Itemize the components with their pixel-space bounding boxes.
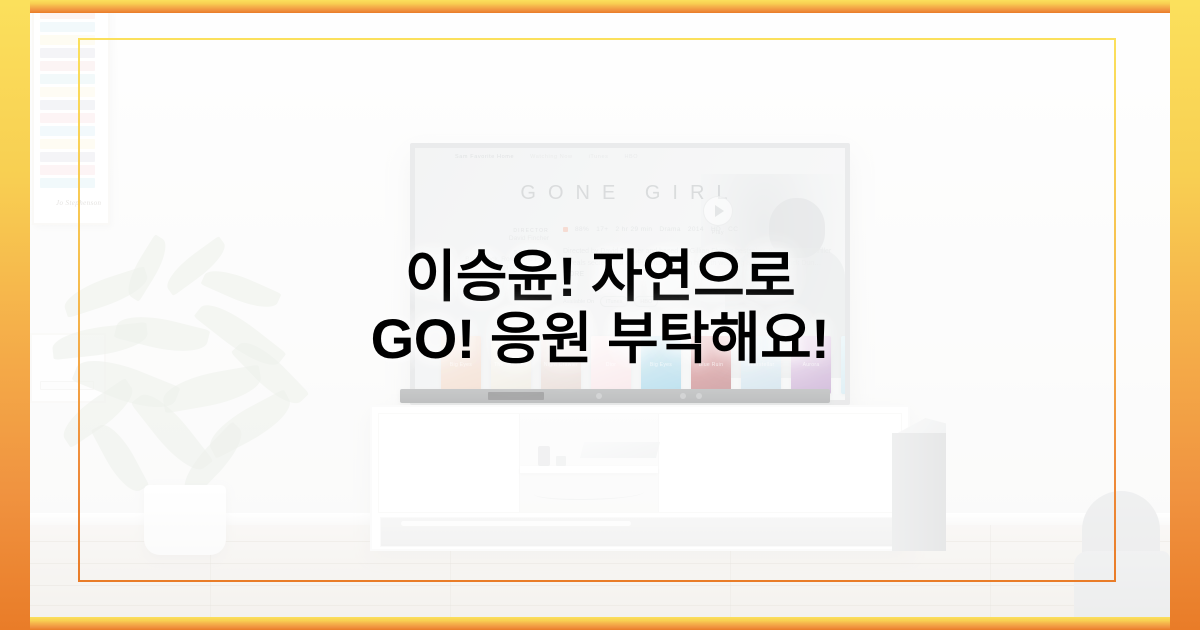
- border-bottom: [0, 617, 1200, 630]
- border-top: [0, 0, 1200, 13]
- console-open-compartment: [519, 414, 659, 512]
- poster-thumbnail[interactable]: The Interview: [491, 336, 531, 394]
- poster-title: Big Eyes: [450, 362, 472, 368]
- potted-plant: [52, 249, 312, 549]
- accent-chair-seat: [1074, 551, 1170, 617]
- console-shelf: [520, 466, 658, 473]
- provider-itunes[interactable]: iTunes: [600, 296, 628, 307]
- soundbar: [400, 389, 830, 403]
- poster-title: Interstellar: [748, 362, 775, 368]
- movie-credits: DIRECTOR David Fincher STARRING Ben Affl…: [463, 228, 549, 280]
- framed-artwork: Jo Stephenson: [32, 13, 110, 225]
- poster-thumbnail[interactable]: Big Eyes: [441, 336, 481, 394]
- border-right: [1170, 0, 1200, 630]
- movie-score: 88%: [575, 226, 589, 233]
- artwork-stripe: [40, 22, 95, 32]
- poster-thumbnail[interactable]: Night Crawler: [541, 336, 581, 394]
- artwork-stripe: [40, 13, 95, 19]
- poster-title: Aurora: [803, 362, 820, 368]
- tv-nav-item-1[interactable]: Watching Now: [530, 154, 572, 160]
- tv-console: [370, 405, 910, 551]
- tv-nav[interactable]: Sam Favorite Home Watching Now iTunes HB…: [455, 154, 638, 160]
- poster-thumbnail[interactable]: Dior: [591, 336, 631, 394]
- poster-carousel[interactable]: Big EyesThe InterviewNight CrawlerDiorBi…: [441, 336, 850, 394]
- console-tray: [580, 442, 660, 458]
- artwork-stripe: [40, 178, 95, 188]
- tv-nav-item-0[interactable]: Sam Favorite Home: [455, 154, 514, 160]
- rating-icon: [563, 227, 568, 232]
- starring-value: Ben Affleck, Rosamund Pike, Neil Patrick…: [463, 256, 549, 274]
- artwork-stripe: [40, 48, 95, 58]
- cable: [534, 486, 644, 500]
- poster-title: Night Crawler: [544, 362, 578, 368]
- small-device: [556, 456, 566, 466]
- movie-description: Directed by David Fincher and based on G…: [563, 246, 833, 281]
- movie-runtime: 2 hr 29 min: [615, 226, 652, 233]
- poster-thumbnail[interactable]: Velvet: [841, 336, 850, 394]
- artwork-stripes: [40, 13, 100, 191]
- poster-title: Dior: [606, 362, 616, 368]
- artwork-signature: Jo Stephenson: [56, 199, 101, 207]
- more-link[interactable]: MORE: [563, 271, 584, 278]
- soundbar-display: [488, 392, 544, 400]
- drawer-handle[interactable]: [401, 521, 631, 526]
- play-button[interactable]: [703, 196, 733, 226]
- available-label: Available On: [563, 299, 594, 305]
- console-body: [378, 413, 902, 513]
- movie-description-text: Directed by David Fincher and based on G…: [563, 248, 831, 267]
- artwork-stripe: [40, 165, 95, 175]
- console-drawer: [380, 517, 900, 547]
- artwork-stripe: [40, 126, 95, 136]
- movie-year: 2014: [688, 226, 704, 233]
- provider-hbo[interactable]: HBO: [634, 296, 658, 307]
- movie-title: GONE GIRL: [415, 182, 845, 205]
- artwork-stripe: [40, 113, 95, 123]
- remote-control: [538, 446, 550, 466]
- director-value: David Fincher: [463, 235, 549, 244]
- floor-speaker: [892, 433, 946, 551]
- tv-screen: Sam Favorite Home Watching Now iTunes HB…: [415, 148, 845, 400]
- poster-thumbnail[interactable]: Big Eyes: [641, 336, 681, 394]
- poster-title: Big Eyes: [650, 362, 672, 368]
- poster-thumbnail[interactable]: Interstellar: [741, 336, 781, 394]
- poster-title: Blue Ruin: [699, 362, 723, 368]
- television: Sam Favorite Home Watching Now iTunes HB…: [410, 143, 850, 405]
- artwork-stripe: [40, 61, 95, 71]
- artwork-stripe: [40, 100, 95, 110]
- poster-thumbnail[interactable]: Blue Ruin: [691, 336, 731, 394]
- border-left: [0, 0, 30, 630]
- image-canvas: Jo Stephenson: [0, 0, 1200, 630]
- artwork-stripe: [40, 74, 95, 84]
- artwork-stripe: [40, 35, 95, 45]
- tv-nav-item-3[interactable]: HBO: [624, 154, 638, 160]
- artwork-stripe: [40, 139, 95, 149]
- artwork-stripe: [40, 152, 95, 162]
- artwork-stripe: [40, 87, 95, 97]
- tv-nav-item-2[interactable]: iTunes: [589, 154, 609, 160]
- plant-pot: [144, 485, 226, 555]
- poster-thumbnail[interactable]: Aurora: [791, 336, 831, 394]
- play-label: Play: [703, 230, 733, 236]
- movie-rating: 17+: [596, 226, 608, 233]
- director-label: DIRECTOR: [463, 228, 549, 235]
- movie-genre: Drama: [659, 226, 681, 233]
- available-on-row: Available On iTunes HBO: [563, 296, 658, 307]
- starring-label: STARRING: [463, 250, 549, 257]
- poster-title: The Interview: [494, 362, 528, 368]
- room-photo: Jo Stephenson: [30, 13, 1170, 617]
